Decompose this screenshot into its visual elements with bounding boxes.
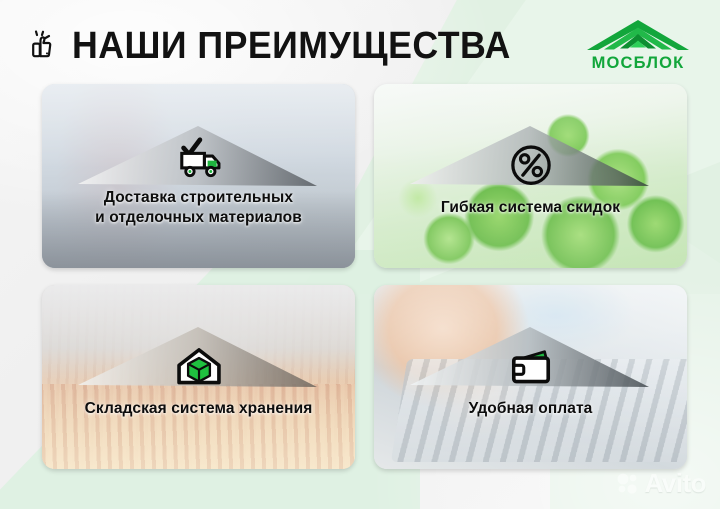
delivery-truck-check-icon bbox=[170, 128, 228, 186]
advantage-card-delivery[interactable]: Доставка строительных и отделочных матер… bbox=[42, 84, 355, 268]
card-label: Гибкая система скидок bbox=[431, 198, 630, 218]
header: НАШИ ПРЕИМУЩЕСТВА МОСБЛОК bbox=[28, 18, 704, 74]
wallet-card-icon bbox=[502, 339, 560, 397]
card-content: Удобная оплата bbox=[374, 285, 687, 469]
advantage-card-warehouse[interactable]: Складская система хранения bbox=[42, 285, 355, 469]
brand-logo[interactable]: МОСБЛОК bbox=[580, 19, 696, 73]
advantage-card-discounts[interactable]: Гибкая система скидок bbox=[374, 84, 687, 268]
advantage-card-payment[interactable]: Удобная оплата bbox=[374, 285, 687, 469]
card-label: Доставка строительных и отделочных матер… bbox=[85, 188, 312, 228]
avito-wordmark: Avito bbox=[644, 468, 706, 499]
advantages-grid: Доставка строительных и отделочных матер… bbox=[42, 84, 687, 469]
mosblok-chevron-logo-icon bbox=[586, 19, 690, 53]
avito-watermark: Avito bbox=[616, 468, 706, 499]
thumbs-up-icon bbox=[28, 30, 62, 64]
avito-dots-icon bbox=[616, 472, 640, 496]
card-content: Складская система хранения bbox=[42, 285, 355, 469]
page-title: НАШИ ПРЕИМУЩЕСТВА bbox=[72, 27, 511, 65]
brand-name: МОСБЛОК bbox=[592, 54, 685, 73]
card-content: Доставка строительных и отделочных матер… bbox=[42, 84, 355, 268]
percent-circle-icon bbox=[502, 138, 560, 196]
card-label: Удобная оплата bbox=[459, 399, 603, 419]
warehouse-box-icon bbox=[170, 339, 228, 397]
card-label: Складская система хранения bbox=[75, 399, 323, 419]
card-content: Гибкая система скидок bbox=[374, 84, 687, 268]
promo-banner: НАШИ ПРЕИМУЩЕСТВА МОСБЛОК bbox=[0, 0, 720, 509]
